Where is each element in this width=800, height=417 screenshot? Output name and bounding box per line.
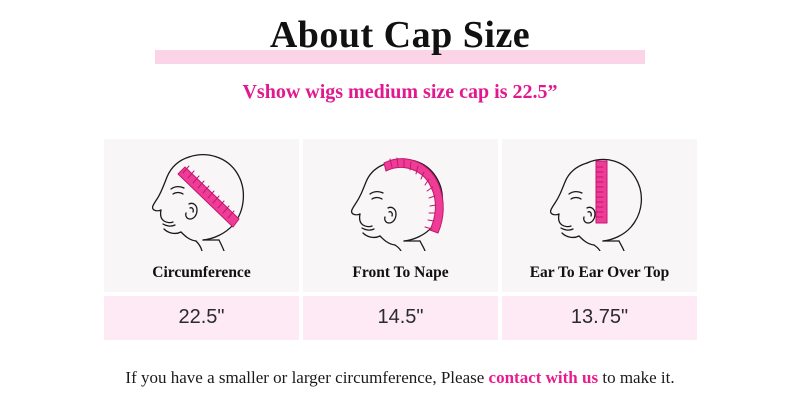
table-cell-label-ear-to-ear: Ear To Ear Over Top — [502, 254, 697, 292]
footer-note: If you have a smaller or larger circumfe… — [0, 366, 800, 390]
table-cell-value-ear-to-ear: 13.75" — [502, 296, 697, 340]
page-subtitle: Vshow wigs medium size cap is 22.5” — [0, 79, 800, 105]
table-row-values: 22.5" 14.5" 13.75" — [104, 296, 697, 340]
table-cell-value-circumference: 22.5" — [104, 296, 299, 340]
label-front-to-nape: Front To Nape — [303, 254, 498, 292]
cap-size-table: Circumference Front To Nape Ear To Ear O… — [104, 139, 697, 340]
table-cell-value-front-to-nape: 14.5" — [303, 296, 498, 340]
value-circumference: 22.5" — [104, 296, 299, 340]
label-circumference: Circumference — [104, 254, 299, 292]
page-title-block: About Cap Size — [0, 10, 800, 68]
footer-text-before: If you have a smaller or larger circumfe… — [125, 368, 488, 387]
table-cell-label-circumference: Circumference — [104, 254, 299, 292]
label-ear-to-ear-over-top: Ear To Ear Over Top — [502, 254, 697, 292]
value-front-to-nape: 14.5" — [303, 296, 498, 340]
table-row-illustrations — [104, 139, 697, 254]
table-cell-illustration-ear-to-ear — [502, 139, 697, 254]
head-circumference-tape-icon — [104, 139, 299, 254]
contact-us-link[interactable]: contact with us — [489, 368, 599, 387]
table-cell-label-front-to-nape: Front To Nape — [303, 254, 498, 292]
value-ear-to-ear-over-top: 13.75" — [502, 296, 697, 340]
head-front-to-nape-tape-icon — [303, 139, 498, 254]
page-title: About Cap Size — [0, 10, 800, 60]
table-cell-illustration-front-to-nape — [303, 139, 498, 254]
head-ear-to-ear-tape-icon — [502, 139, 697, 254]
table-row-labels: Circumference Front To Nape Ear To Ear O… — [104, 254, 697, 292]
table-cell-illustration-circumference — [104, 139, 299, 254]
footer-text-after: to make it. — [598, 368, 674, 387]
